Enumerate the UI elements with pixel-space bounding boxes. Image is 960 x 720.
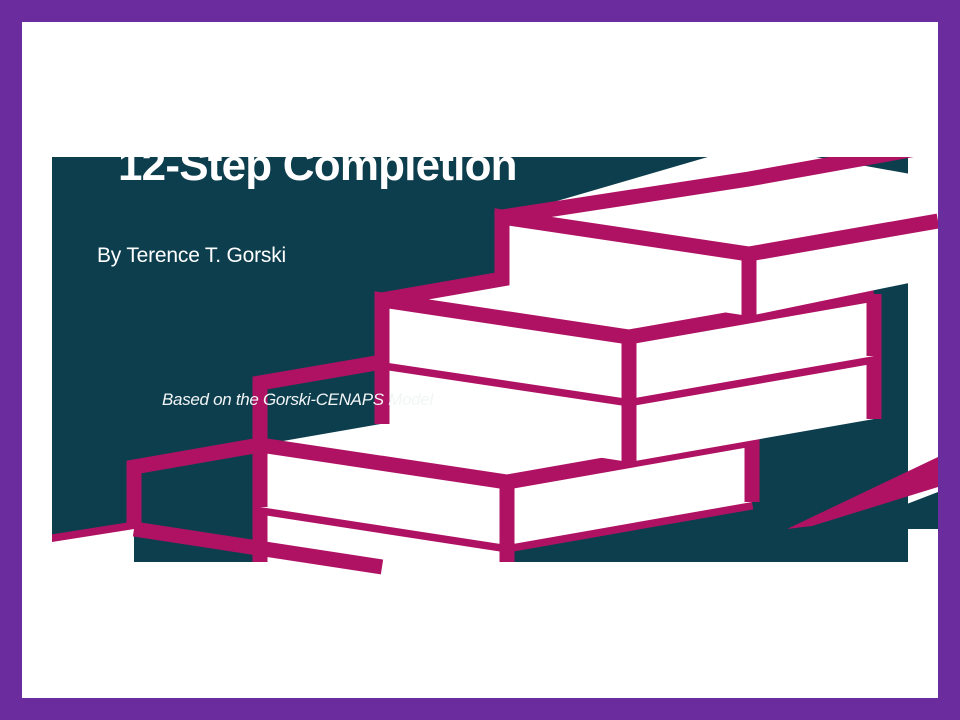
slide-frame: Questionnaire of 12-Step Completion By T… bbox=[0, 0, 960, 720]
title-line-1: Questionnaire of bbox=[118, 85, 455, 134]
slide-background-panel bbox=[52, 157, 908, 562]
title-line-2: 12-Step Completion bbox=[118, 138, 578, 194]
model-attribution-footnote: Based on the Gorski-CENAPS Model bbox=[162, 390, 433, 410]
author-byline: By Terence T. Gorski bbox=[97, 244, 286, 268]
slide-title-block: Questionnaire of 12-Step Completion bbox=[118, 82, 578, 195]
page-title: Questionnaire of 12-Step Completion bbox=[118, 82, 578, 195]
slide-canvas: Questionnaire of 12-Step Completion By T… bbox=[22, 22, 938, 698]
